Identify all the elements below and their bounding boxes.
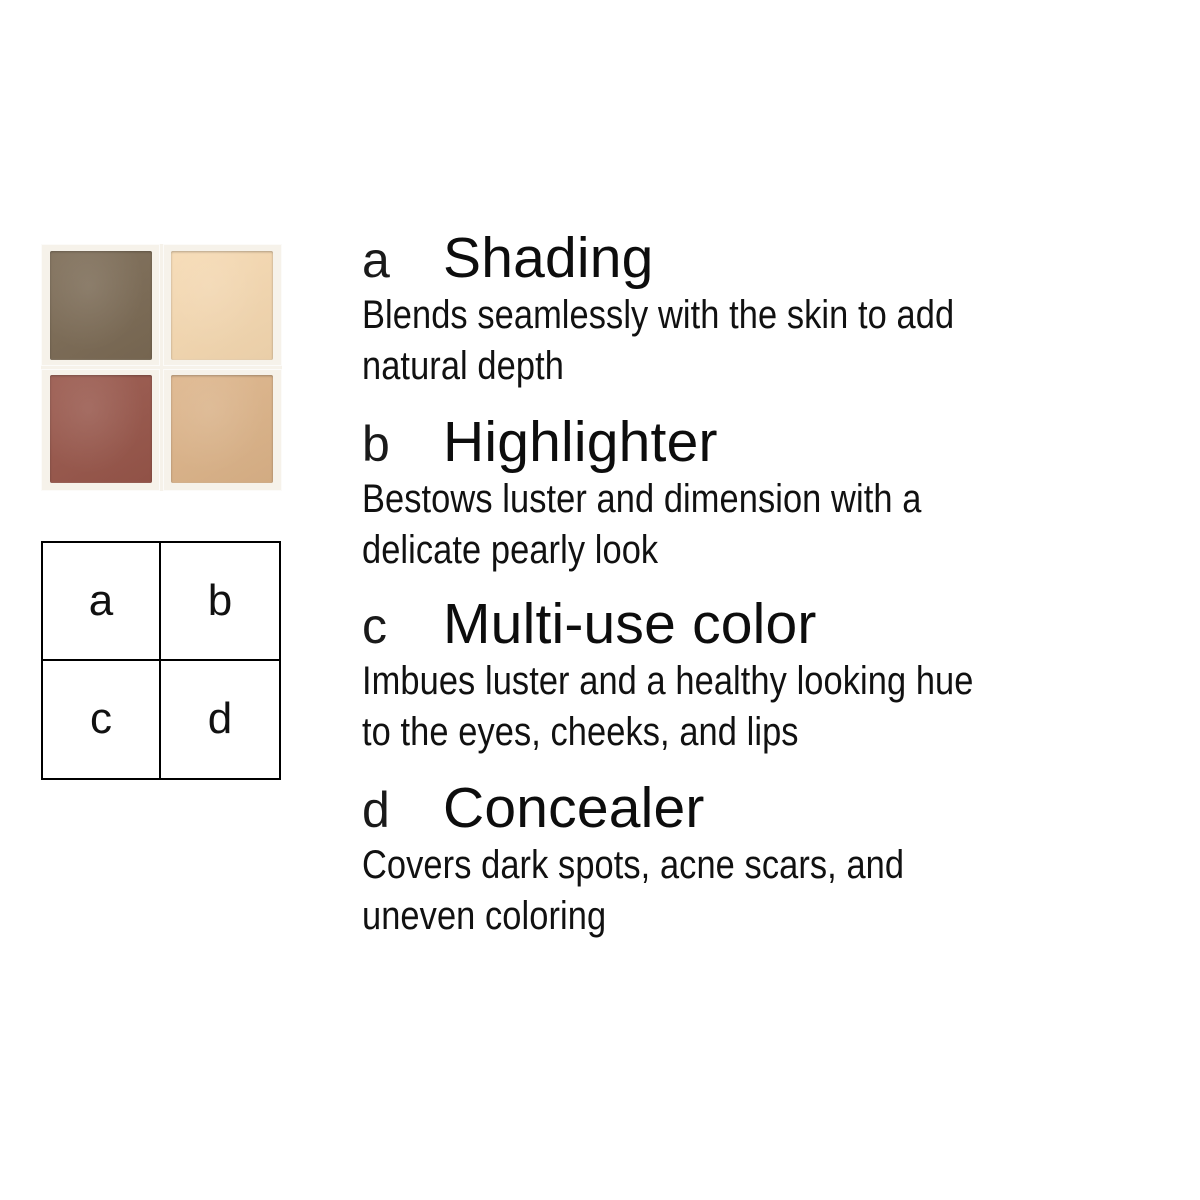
entry-shading-key: a (362, 234, 443, 287)
palette-pan-a-color (50, 251, 152, 360)
entry-highlighter-heading: b Highlighter (362, 412, 1182, 472)
entry-highlighter-key: b (362, 418, 443, 471)
entry-multi-use-color-title: Multi-use color (443, 594, 817, 654)
entry-concealer-key: d (362, 784, 443, 837)
palette-pan-c (41, 369, 160, 491)
key-cell-a-label: a (89, 579, 113, 623)
entry-concealer-title: Concealer (443, 778, 705, 838)
key-cell-b: b (161, 543, 279, 661)
key-cell-d-label: d (208, 697, 232, 741)
key-cell-a: a (43, 543, 161, 661)
palette-pan-b (163, 244, 282, 366)
key-cell-c: c (43, 661, 161, 779)
entry-concealer: d Concealer Covers dark spots, acne scar… (362, 778, 1182, 942)
palette-pan-a (41, 244, 160, 366)
palette-pan-c-color (50, 375, 152, 483)
entry-multi-use-color-heading: c Multi-use color (362, 594, 1182, 654)
position-key-grid: a b c d (41, 541, 281, 780)
product-palette (41, 244, 282, 491)
palette-pan-d-color (171, 375, 273, 483)
key-cell-b-label: b (208, 579, 232, 623)
entry-shading: a Shading Blends seamlessly with the ski… (362, 228, 1182, 392)
entry-shading-description: Blends seamlessly with the skin to add n… (362, 290, 1067, 392)
entry-shading-heading: a Shading (362, 228, 1182, 288)
palette-pan-d (163, 369, 282, 491)
entry-multi-use-color-description: Imbues luster and a healthy looking hue … (362, 656, 1067, 758)
key-cell-d: d (161, 661, 279, 779)
key-cell-c-label: c (90, 697, 112, 741)
entry-highlighter-description: Bestows luster and dimension with a deli… (362, 474, 1067, 576)
entry-multi-use-color: c Multi-use color Imbues luster and a he… (362, 594, 1182, 758)
entry-highlighter: b Highlighter Bestows luster and dimensi… (362, 412, 1182, 576)
entry-concealer-description: Covers dark spots, acne scars, and uneve… (362, 840, 1067, 942)
entry-multi-use-color-key: c (362, 600, 443, 653)
palette-pan-b-color (171, 251, 273, 360)
entry-list: a Shading Blends seamlessly with the ski… (362, 228, 1182, 942)
entry-concealer-heading: d Concealer (362, 778, 1182, 838)
entry-shading-title: Shading (443, 228, 654, 288)
entry-highlighter-title: Highlighter (443, 412, 718, 472)
